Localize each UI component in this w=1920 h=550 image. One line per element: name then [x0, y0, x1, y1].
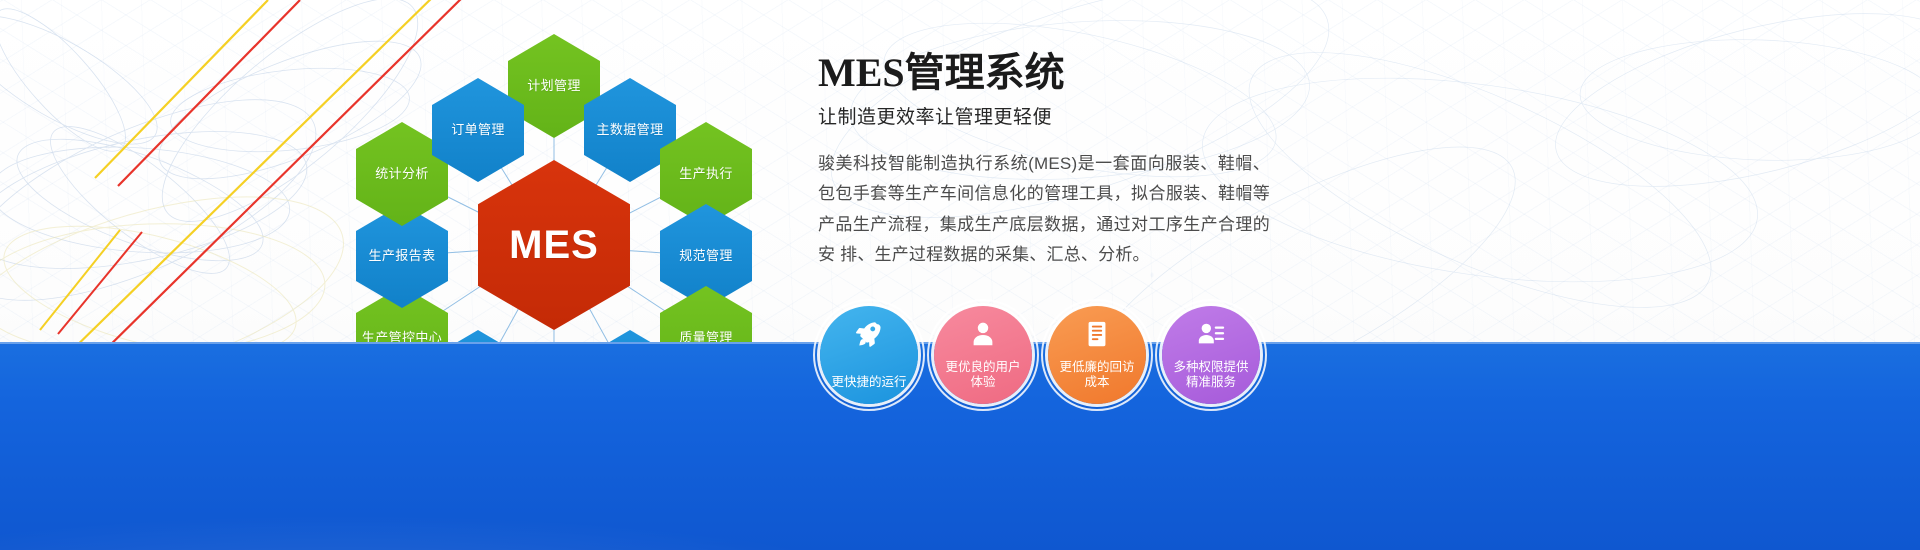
- user-list-icon: [1196, 319, 1226, 354]
- user-icon: [968, 319, 998, 354]
- hex-node-2-label: 生产执行: [675, 166, 737, 182]
- badge-multi-permission-service[interactable]: 多种权限提供精准服务: [1162, 306, 1260, 404]
- badge-faster-operation[interactable]: 更快捷的运行: [820, 306, 918, 404]
- document-icon: [1082, 319, 1112, 354]
- badge-multi-permission-service-label: 多种权限提供精准服务: [1168, 360, 1254, 391]
- badge-better-user-experience-label: 更优良的用户体验: [940, 360, 1026, 391]
- hex-node-3-label: 规范管理: [675, 248, 737, 264]
- badge-lower-revisit-cost[interactable]: 更低廉的回访成本: [1048, 306, 1146, 404]
- hex-node-9-label: 生产报告表: [364, 248, 439, 264]
- page-subtitle: 让制造更效率让管理更轻便: [818, 102, 1288, 129]
- hex-node-0-label: 计划管理: [523, 78, 585, 94]
- badge-faster-operation-label: 更快捷的运行: [826, 375, 912, 391]
- hex-node-10-label: 统计分析: [371, 166, 433, 182]
- hex-node-center-label: MES: [505, 221, 603, 270]
- hex-node-11-label: 订单管理: [447, 122, 509, 138]
- page-description: 骏美科技智能制造执行系统(MES)是一套面向服装、鞋帽、包包手套等生产车间信息化…: [818, 149, 1270, 270]
- feature-badges: 更快捷的运行 更优良的用户体验: [820, 306, 1260, 404]
- page-title: MES管理系统: [818, 52, 1288, 94]
- rocket-icon: [854, 319, 884, 354]
- banner-text-column: MES管理系统 让制造更效率让管理更轻便 骏美科技智能制造执行系统(MES)是一…: [818, 52, 1288, 270]
- hex-node-1-label: 主数据管理: [592, 122, 667, 138]
- banner-stage: MES 计划管理 主数据管理 生产执行 规范管理 质量管理 仓库管理 车间现场管…: [0, 0, 1920, 550]
- badge-lower-revisit-cost-label: 更低廉的回访成本: [1054, 360, 1140, 391]
- badge-better-user-experience[interactable]: 更优良的用户体验: [934, 306, 1032, 404]
